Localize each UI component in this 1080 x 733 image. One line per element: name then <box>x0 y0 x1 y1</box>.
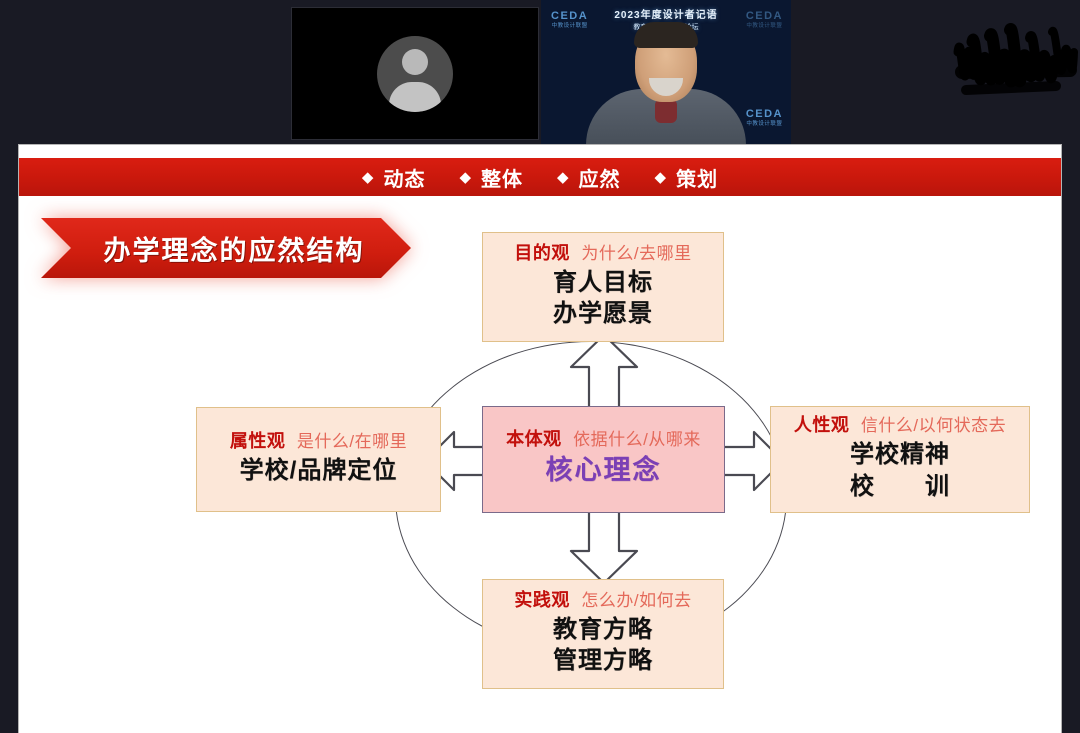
video-event-title-main: 2023年度设计者记语 <box>614 8 717 23</box>
arrow-center-to-top <box>567 333 641 409</box>
diagram-node-practice[interactable]: 实践观 怎么办/如何去 教育方略 管理方略 <box>482 579 724 689</box>
node-purpose-line-0: 育人目标 <box>553 267 653 299</box>
ceda-logo-text-2: CEDA <box>746 10 783 22</box>
node-practice-question: 怎么办/如何去 <box>581 591 691 610</box>
ceda-logo-text: CEDA <box>551 10 588 22</box>
ceda-logo-bottom-right: CEDA 中教设计联盟 <box>746 108 783 127</box>
diagram-node-purpose[interactable]: 目的观 为什么/去哪里 育人目标 办学愿景 <box>482 232 724 342</box>
arrow-center-to-bottom <box>567 509 641 585</box>
node-purpose-tag: 目的观 <box>514 243 570 263</box>
node-humanity-header: 人性观 信什么/以何状态去 <box>794 416 1006 436</box>
ceda-logo-text-3: CEDA <box>746 108 783 120</box>
avatar <box>377 36 453 112</box>
scribble-redaction-mark <box>952 12 1078 132</box>
node-humanity-line-1: 校 训 <box>850 471 950 503</box>
node-practice-header: 实践观 怎么办/如何去 <box>514 591 691 611</box>
participant-tile-avatar[interactable] <box>291 7 539 140</box>
diagram-node-humanity[interactable]: 人性观 信什么/以何状态去 学校精神 校 训 <box>770 406 1030 513</box>
node-ontology-line-0: 核心理念 <box>546 453 662 489</box>
node-purpose-line-1: 办学愿景 <box>553 298 653 330</box>
speaker-hair <box>634 22 698 48</box>
ceda-logo-subtext-3: 中教设计联盟 <box>746 121 783 127</box>
node-purpose-header: 目的观 为什么/去哪里 <box>514 244 691 264</box>
node-humanity-line-0: 学校精神 <box>850 439 950 471</box>
node-humanity-question: 信什么/以何状态去 <box>861 416 1006 435</box>
presentation-slide: ◆ 动态 ◆ 整体 ◆ 应然 ◆ 策划 办学理念的应然结构 <box>18 144 1062 733</box>
ceda-logo-subtext: 中教设计联盟 <box>551 23 588 29</box>
ceda-logo-subtext-2: 中教设计联盟 <box>746 23 783 29</box>
node-attribute-header: 属性观 是什么/在哪里 <box>230 432 407 452</box>
node-ontology-question: 依据什么/从哪来 <box>573 430 701 449</box>
participant-tile-speaker[interactable]: 2023年度设计者记语 教育设计与发展·论坛 CEDA 中教设计联盟 CEDA … <box>541 0 791 145</box>
node-purpose-question: 为什么/去哪里 <box>581 244 691 263</box>
ceda-logo-top-right: CEDA 中教设计联盟 <box>746 10 783 29</box>
node-attribute-tag: 属性观 <box>230 431 286 451</box>
node-ontology-header: 本体观 依据什么/从哪来 <box>506 430 701 450</box>
node-practice-line-0: 教育方略 <box>553 614 653 646</box>
node-practice-tag: 实践观 <box>514 590 570 610</box>
concept-diagram: 目的观 为什么/去哪里 育人目标 办学愿景 属性观 是什么/在哪里 学校/品牌定… <box>19 145 1061 733</box>
avatar-body-icon <box>389 82 441 112</box>
node-humanity-tag: 人性观 <box>794 415 850 435</box>
video-participant-strip: 2023年度设计者记语 教育设计与发展·论坛 CEDA 中教设计联盟 CEDA … <box>0 0 1080 145</box>
node-ontology-tag: 本体观 <box>506 429 562 449</box>
node-attribute-question: 是什么/在哪里 <box>297 432 407 451</box>
node-attribute-line-0: 学校/品牌定位 <box>240 455 398 487</box>
node-practice-line-1: 管理方略 <box>553 645 653 677</box>
diagram-node-ontology[interactable]: 本体观 依据什么/从哪来 核心理念 <box>482 406 725 513</box>
screen-root: 2023年度设计者记语 教育设计与发展·论坛 CEDA 中教设计联盟 CEDA … <box>0 0 1080 733</box>
avatar-head-icon <box>402 49 428 75</box>
ceda-logo-top-left: CEDA 中教设计联盟 <box>551 10 588 29</box>
diagram-node-attribute[interactable]: 属性观 是什么/在哪里 学校/品牌定位 <box>196 407 441 512</box>
speaker-collar <box>655 99 677 123</box>
